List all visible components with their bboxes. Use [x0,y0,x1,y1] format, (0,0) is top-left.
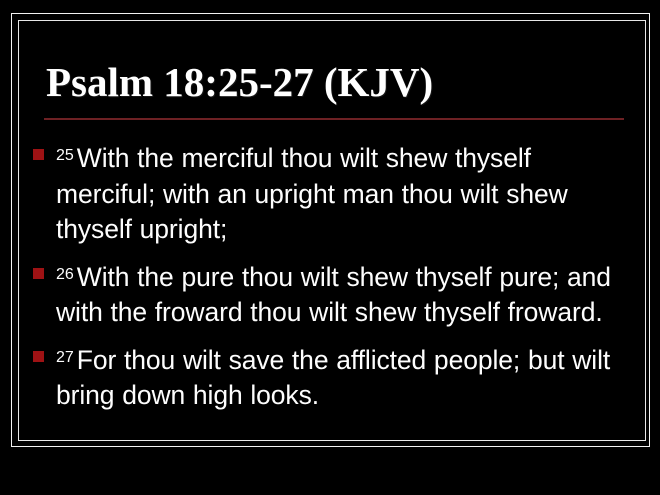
slide-body: 25With the merciful thou wilt shew thyse… [30,138,630,414]
slide-title-block: Psalm 18:25-27 (KJV) [46,58,626,106]
verse-text: With the pure thou wilt shew thyself pur… [56,262,611,328]
page-title: Psalm 18:25-27 (KJV) [46,58,626,106]
verse-number: 25 [56,147,77,164]
square-bullet-icon [33,351,44,362]
bullet-text-block: 26With the pure thou wilt shew thyself p… [56,257,630,331]
list-item: 25With the merciful thou wilt shew thyse… [30,138,630,248]
list-item: 27For thou wilt save the afflicted peopl… [30,340,630,414]
bullet-text-block: 25With the merciful thou wilt shew thyse… [56,138,630,248]
title-divider-rule [44,118,624,120]
verse-text: With the merciful thou wilt shew thyself… [56,143,568,244]
presentation-slide: Psalm 18:25-27 (KJV) 25With the merciful… [0,0,660,495]
verse-number: 26 [56,266,77,283]
list-item: 26With the pure thou wilt shew thyself p… [30,257,630,331]
bullet-text-block: 27For thou wilt save the afflicted peopl… [56,340,630,414]
verse-number: 27 [56,349,77,366]
square-bullet-icon [33,268,44,279]
square-bullet-icon [33,149,44,160]
verse-text: For thou wilt save the afflicted people;… [56,345,610,411]
